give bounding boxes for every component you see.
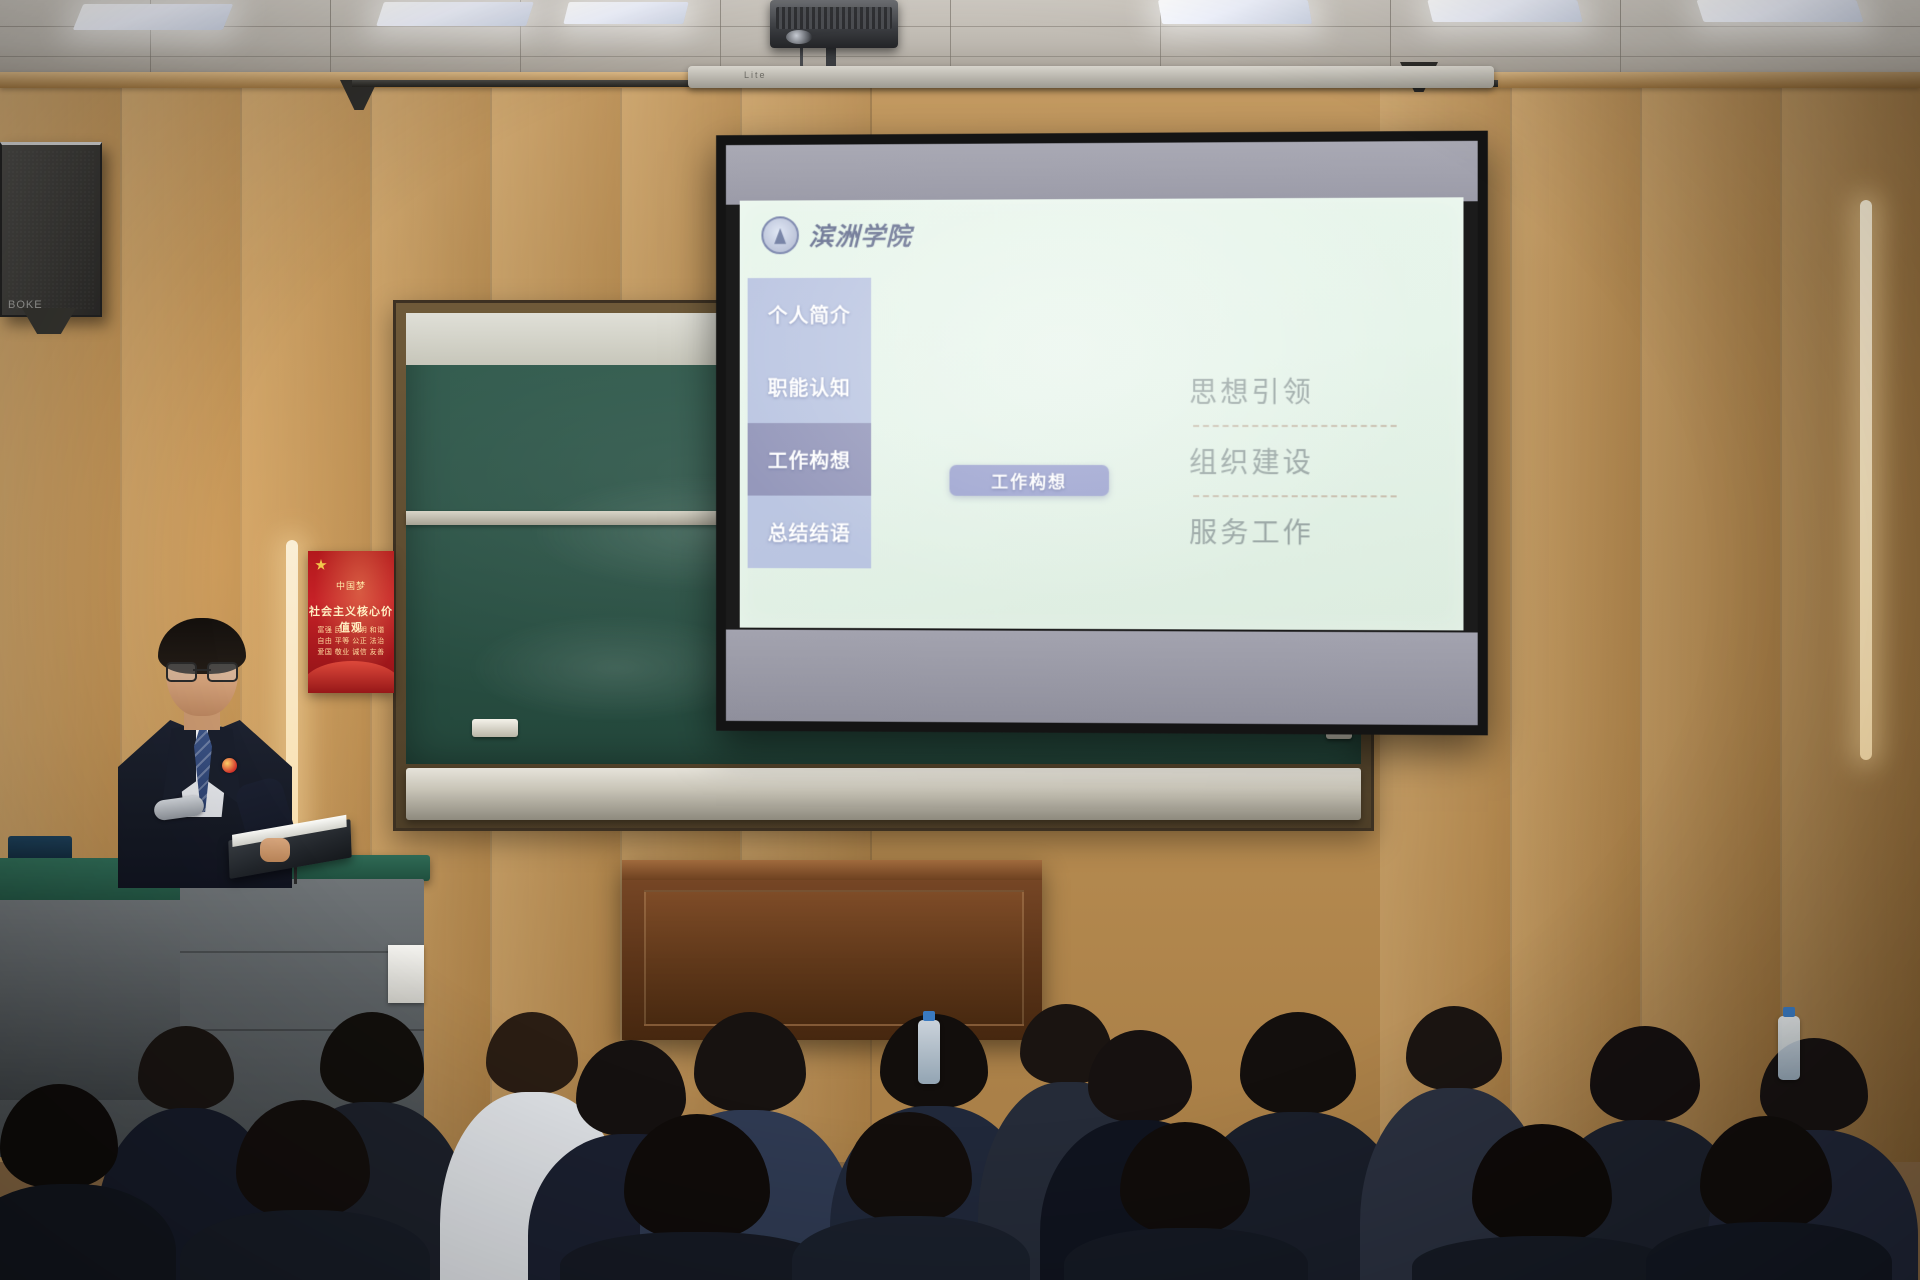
- ceiling-projector: [770, 0, 898, 48]
- desk-top: [622, 860, 1042, 880]
- ceiling-light: [73, 4, 234, 30]
- slide-nav-item-1: 个人简介: [748, 278, 872, 351]
- side-desk-body: [0, 900, 180, 1100]
- screen-top-band: [726, 141, 1478, 205]
- slide-center-pill: 工作构想: [950, 465, 1109, 496]
- roller-brand-label: Lite: [744, 70, 767, 80]
- slide-right-item-2: 组织建设: [1189, 437, 1401, 485]
- presenter: [110, 612, 310, 882]
- poster-ribbon: [308, 661, 394, 693]
- lecture-hall-scene: BOKE Lite 滨洲学院: [0, 0, 1920, 1280]
- poster-values: 富强 民主 文明 和谐 自由 平等 公正 法治 爱国 敬业 诚信 友善: [308, 625, 394, 658]
- slide-nav-item-3-active: 工作构想: [748, 423, 872, 496]
- desk-front-panel: [644, 890, 1024, 1026]
- slide-nav-item-4: 总结结语: [748, 496, 872, 569]
- board-eraser: [472, 719, 518, 737]
- slide-right-column: 思想引领 组织建设 服务工作: [1189, 367, 1401, 556]
- university-seal-icon: [761, 216, 799, 254]
- projector-lens-icon: [786, 30, 812, 44]
- university-name: 滨洲学院: [809, 217, 912, 253]
- party-badge-pin-icon: [222, 758, 237, 773]
- presenter-hand: [260, 838, 290, 862]
- projection-screen: 滨洲学院 个人简介 职能认知 工作构想 总结结语 工作构想 思想引领 组织建设: [716, 131, 1488, 736]
- slide-right-item-3: 服务工作: [1189, 507, 1401, 556]
- propaganda-poster: 中国梦 社会主义核心价值观 富强 民主 文明 和谐 自由 平等 公正 法治 爱国…: [308, 551, 394, 693]
- ceiling-grid-line: [330, 0, 331, 78]
- guest-desk: [622, 860, 1042, 1040]
- projection-screen-surface: 滨洲学院 个人简介 职能认知 工作构想 总结结语 工作构想 思想引领 组织建设: [726, 141, 1478, 725]
- ceiling-light: [376, 2, 534, 26]
- ceiling-grid-line: [0, 56, 1920, 57]
- ceiling-grid-line: [0, 26, 1920, 27]
- speaker-mesh: [7, 150, 95, 310]
- wall-strip-light: [1860, 200, 1872, 760]
- slide-right-separator: [1193, 495, 1397, 497]
- wall-speaker: BOKE: [0, 142, 102, 317]
- ceiling-light: [563, 2, 688, 24]
- presentation-slide: 滨洲学院 个人简介 职能认知 工作构想 总结结语 工作构想 思想引领 组织建设: [740, 197, 1464, 630]
- ceiling-light: [1158, 0, 1312, 24]
- ceiling-grid-line: [1620, 0, 1621, 78]
- screen-bottom-band: [726, 630, 1478, 726]
- poster-title: 中国梦: [308, 579, 394, 592]
- guest-name-card: 嘉宾: [1410, 1188, 1498, 1238]
- podium-paper: [388, 945, 424, 1003]
- slide-right-separator: [1193, 425, 1397, 427]
- guest-name-card: 嘉宾: [484, 1198, 586, 1256]
- university-logo: 滨洲学院: [761, 216, 911, 254]
- projection-screen-roller: Lite: [688, 66, 1494, 88]
- slide-section-nav: 个人简介 职能认知 工作构想 总结结语: [748, 278, 872, 569]
- chalk-tray: [406, 768, 1361, 820]
- slide-right-item-1: 思想引领: [1189, 367, 1401, 415]
- glasses-icon: [166, 662, 238, 678]
- projector-vent: [776, 7, 892, 29]
- ceiling-light: [1427, 0, 1582, 22]
- slide-nav-item-2: 职能认知: [748, 350, 872, 423]
- podium-front: [176, 879, 424, 1149]
- ceiling-light: [1696, 0, 1863, 22]
